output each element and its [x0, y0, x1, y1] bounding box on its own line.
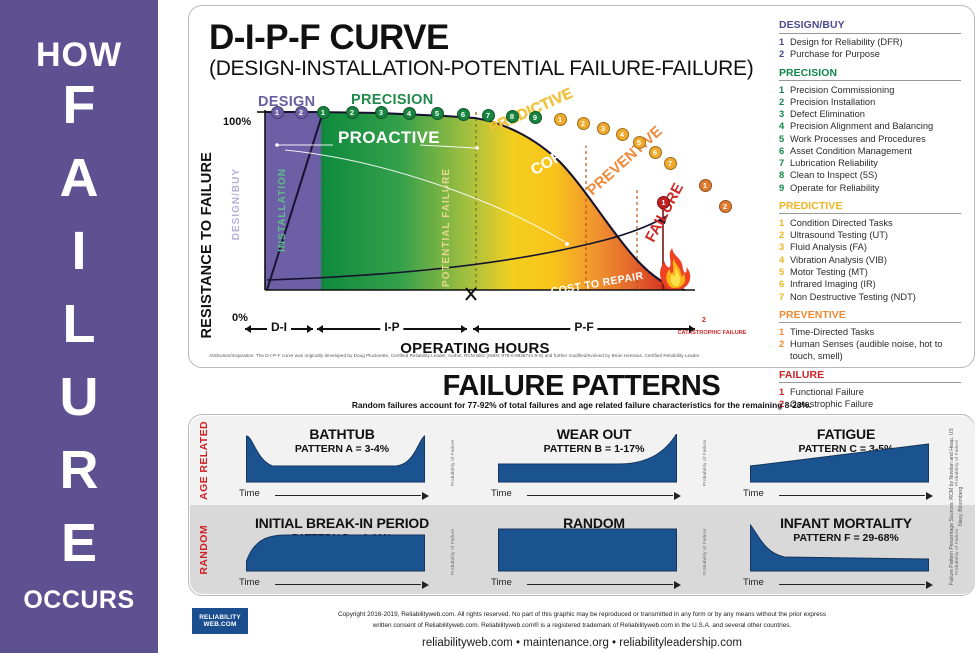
legend-heading-preventive: PREVENTIVE — [779, 310, 961, 324]
legend-item-number: 5 — [779, 266, 790, 278]
legend-panel: DESIGN/BUY1Design for Reliability (DFR)2… — [779, 20, 961, 417]
legend-group-preventive: PREVENTIVE1Time-Directed Tasks2Human Sen… — [779, 310, 961, 363]
pattern-time-arrow — [674, 492, 681, 500]
pattern-cell-wearout: WEAR OUTPATTERN B = 1-17%Probability of … — [469, 420, 719, 502]
pattern-cell-breakin: INITIAL BREAK-IN PERIODPATTERN D = 6-11%… — [217, 509, 467, 591]
band-label-text: RANDOM — [198, 525, 210, 575]
pattern-y-label: Probability of Failure — [702, 428, 707, 486]
legend-item-number: 1 — [779, 217, 790, 229]
legend-item-number: 3 — [779, 241, 790, 253]
copyright-line-1: Copyright 2016-2019, Reliabilityweb.com.… — [262, 609, 902, 620]
pattern-shape-svg — [485, 523, 690, 573]
legend-item: 9Operate for Reliability — [779, 182, 961, 194]
legend-item-label: Ultrasound Testing (UT) — [790, 229, 888, 241]
legend-item: 7Non Destructive Testing (NDT) — [779, 291, 961, 303]
failure-patterns-panel: AGE RELATEDBATHTUBPATTERN A = 3-4%Probab… — [188, 414, 975, 596]
legend-item-number: 9 — [779, 182, 790, 194]
pattern-time-line — [779, 584, 925, 585]
axis-seg-left-arrow — [245, 325, 251, 333]
banner-letter-l-3: L — [63, 297, 96, 351]
pattern-time-label: Time — [743, 577, 764, 588]
legend-item-number: 2 — [779, 48, 790, 60]
legend-heading-predictive: PREDICTIVE — [779, 201, 961, 215]
copyright-line-2: written consent of Reliabilityweb.com. R… — [262, 620, 902, 631]
pattern-time-label: Time — [239, 577, 260, 588]
infographic-page: HOW FAILURE OCCURS D-I-P-F CURVE (DESIGN… — [0, 0, 980, 653]
footer-copyright: Copyright 2016-2019, Reliabilityweb.com.… — [262, 609, 902, 631]
pattern-y-label: Probability of Failure — [450, 517, 455, 575]
vertical-label-design-buy: DESIGN/BUY — [231, 168, 242, 240]
logo-line-1: RELIABILITY — [199, 614, 241, 621]
legend-item-number: 2 — [779, 338, 790, 363]
dipf-chart: RESISTANCE TO FAILURE 100% 0% — [205, 90, 715, 360]
flame-icon — [660, 248, 690, 290]
pattern-time-line — [275, 584, 421, 585]
legend-group-precision: PRECISION1Precision Commissioning2Precis… — [779, 68, 961, 194]
legend-item-number: 3 — [779, 108, 790, 120]
catastrophic-number: 2 — [702, 317, 706, 324]
axis-seg-label: D-I — [267, 320, 291, 334]
pattern-shape-svg — [737, 434, 942, 484]
band-label-random: RANDOM — [195, 505, 213, 594]
pattern-graph — [233, 434, 438, 484]
legend-item-number: 8 — [779, 169, 790, 181]
axis-seg-label: P-F — [570, 320, 597, 334]
dot-predictive-1: 1 — [554, 113, 567, 126]
dot-predictive-4: 4 — [616, 128, 629, 141]
axis-seg-right-arrow — [689, 325, 695, 333]
legend-item-label: Operate for Reliability — [790, 182, 879, 194]
pattern-shape-svg — [485, 434, 690, 484]
pattern-y-label: Probability of Failure — [450, 428, 455, 486]
failure-pattern-cells: AGE RELATEDBATHTUBPATTERN A = 3-4%Probab… — [189, 415, 974, 595]
pattern-time-line — [275, 495, 421, 496]
legend-item-label: Fluid Analysis (FA) — [790, 241, 867, 253]
vertical-label-installation: INSTALLATION — [277, 168, 288, 252]
pattern-cell-infant: INFANT MORTALITYPATTERN F = 29-68%Probab… — [721, 509, 971, 591]
legend-item-number: 2 — [779, 229, 790, 241]
pattern-time-label: Time — [239, 488, 260, 499]
banner-occurs: OCCURS — [0, 586, 158, 615]
left-banner: HOW FAILURE OCCURS — [0, 0, 158, 653]
dot-precision-2: 2 — [346, 106, 359, 119]
axis-seg-left-arrow — [317, 325, 323, 333]
legend-item: 5Motor Testing (MT) — [779, 266, 961, 278]
dot-precision-1: 1 — [317, 106, 330, 119]
pattern-time-line — [779, 495, 925, 496]
pattern-graph — [485, 523, 690, 573]
band-label-text: AGE RELATED — [198, 421, 210, 500]
legend-item: 4Vibration Analysis (VIB) — [779, 254, 961, 266]
dot-predictive-5: 5 — [633, 136, 646, 149]
banner-letter-f-0: F — [63, 78, 96, 132]
dot-precision-9: 9 — [529, 111, 542, 124]
pattern-time-axis: Time — [743, 577, 933, 589]
legend-item: 2Purchase for Purpose — [779, 48, 961, 60]
legend-item-label: Infrared Imaging (IR) — [790, 278, 876, 290]
legend-item-number: 2 — [779, 96, 790, 108]
legend-item-label: Defect Elimination — [790, 108, 865, 120]
axis-segment-di: D-I — [245, 322, 313, 336]
legend-item-label: Precision Commissioning — [790, 84, 894, 96]
pattern-time-axis: Time — [743, 488, 933, 500]
legend-item-label: Asset Condition Management — [790, 145, 912, 157]
vertical-label-potential-failure: POTENTIAL FAILURE — [441, 168, 452, 287]
legend-item-label: Time-Directed Tasks — [790, 326, 874, 338]
legend-item: 1Time-Directed Tasks — [779, 326, 961, 338]
axis-segment-ip: I-P — [317, 322, 467, 336]
legend-item-number: 6 — [779, 278, 790, 290]
legend-item: 2Precision Installation — [779, 96, 961, 108]
pattern-time-arrow — [674, 581, 681, 589]
pattern-time-arrow — [926, 581, 933, 589]
pattern-time-axis: Time — [239, 577, 429, 589]
dot-precision-6: 6 — [457, 108, 470, 121]
pattern-graph — [737, 434, 942, 484]
pattern-cell-bathtub: BATHTUBPATTERN A = 3-4%Probability of Fa… — [217, 420, 467, 502]
banner-how: HOW — [0, 36, 158, 75]
legend-item: 1Precision Commissioning — [779, 84, 961, 96]
legend-item-label: Clean to Inspect (5S) — [790, 169, 877, 181]
dot-failure-1: 1 — [657, 196, 670, 209]
banner-letter-u-4: U — [60, 370, 99, 424]
banner-letter-i-2: I — [71, 224, 86, 278]
proactive-arrow-end — [475, 146, 479, 150]
band-label-age-related: AGE RELATED — [195, 416, 213, 505]
pattern-graph — [233, 523, 438, 573]
pattern-time-arrow — [422, 492, 429, 500]
proactive-arrow-dot — [275, 143, 279, 147]
axis-seg-label: I-P — [380, 320, 403, 334]
legend-item: 5Work Processes and Procedures — [779, 133, 961, 145]
legend-item: 7Lubrication Reliability — [779, 157, 961, 169]
legend-item-label: Condition Directed Tasks — [790, 217, 893, 229]
pattern-graph — [737, 523, 942, 573]
reliabilityweb-logo[interactable]: RELIABILITY WEB.COM — [192, 608, 248, 634]
legend-heading-precision: PRECISION — [779, 68, 961, 82]
pattern-time-line — [527, 584, 673, 585]
failure-patterns-title: FAILURE PATTERNS — [188, 370, 975, 403]
corrective-arrow-end — [565, 242, 569, 246]
legend-item: 3Fluid Analysis (FA) — [779, 241, 961, 253]
legend-item-number: 5 — [779, 133, 790, 145]
legend-item: 3Defect Elimination — [779, 108, 961, 120]
legend-item-number: 7 — [779, 157, 790, 169]
axis-seg-right-arrow — [461, 325, 467, 333]
legend-item-number: 1 — [779, 36, 790, 48]
legend-item-label: Motor Testing (MT) — [790, 266, 868, 278]
banner-letters: FAILURE — [0, 78, 158, 570]
legend-item: 2Ultrasound Testing (UT) — [779, 229, 961, 241]
pattern-time-arrow — [926, 492, 933, 500]
legend-heading-designbuy: DESIGN/BUY — [779, 20, 961, 34]
attribution-text: Attribution/Inspiration: The D-I-P-F cur… — [209, 353, 829, 358]
dot-precision-8: 8 — [506, 110, 519, 123]
legend-item: 2Human Senses (audible noise, hot to tou… — [779, 338, 961, 363]
dot-design-2: 2 — [295, 106, 308, 119]
failure-patterns-subtitle: Random failures account for 77-92% of to… — [188, 400, 975, 410]
page-title: D-I-P-F CURVE — [209, 18, 449, 58]
legend-item-number: 4 — [779, 254, 790, 266]
legend-item-label: Vibration Analysis (VIB) — [790, 254, 887, 266]
legend-item-label: Precision Installation — [790, 96, 875, 108]
pattern-graph — [485, 434, 690, 484]
pattern-time-line — [527, 495, 673, 496]
pattern-shape-svg — [737, 523, 942, 573]
logo-line-2: WEB.COM — [204, 621, 237, 628]
dot-precision-4: 4 — [403, 107, 416, 120]
legend-item: 8Clean to Inspect (5S) — [779, 169, 961, 181]
pattern-time-arrow — [422, 581, 429, 589]
legend-item-label: Lubrication Reliability — [790, 157, 878, 169]
legend-item-label: Human Senses (audible noise, hot to touc… — [790, 338, 961, 363]
axis-seg-left-arrow — [473, 325, 479, 333]
legend-item: 6Infrared Imaging (IR) — [779, 278, 961, 290]
legend-item-label: Precision Alignment and Balancing — [790, 120, 933, 132]
legend-item-label: Design for Reliability (DFR) — [790, 36, 903, 48]
legend-group-predictive: PREDICTIVE1Condition Directed Tasks2Ultr… — [779, 201, 961, 303]
failure-pattern-source-note: Failure Pattern Percentage Sources: RCM … — [948, 424, 972, 589]
footer-websites: reliabilityweb.com • maintenance.org • r… — [262, 637, 902, 649]
dot-design-1: 1 — [271, 106, 284, 119]
axis-seg-right-arrow — [307, 325, 313, 333]
dot-predictive-2: 2 — [577, 117, 590, 130]
zone-label-proactive: PROACTIVE — [338, 128, 440, 148]
axis-segment-pf: P-F — [473, 322, 695, 336]
legend-item-number: 7 — [779, 291, 790, 303]
pattern-y-label: Probability of Failure — [702, 517, 707, 575]
dipf-curve-panel: D-I-P-F CURVE (DESIGN-INSTALLATION-POTEN… — [188, 5, 975, 368]
dot-predictive-6: 6 — [649, 146, 662, 159]
legend-item-number: 1 — [779, 84, 790, 96]
legend-group-designbuy: DESIGN/BUY1Design for Reliability (DFR)2… — [779, 20, 961, 61]
legend-item: 4Precision Alignment and Balancing — [779, 120, 961, 132]
pattern-time-label: Time — [491, 488, 512, 499]
legend-item: 1Design for Reliability (DFR) — [779, 36, 961, 48]
pattern-cell-random: RANDOMPATTERN E = 14-42%Probability of F… — [469, 509, 719, 591]
pattern-shape-svg — [233, 434, 438, 484]
dot-preventive-1: 1 — [699, 179, 712, 192]
dot-predictive-7: 7 — [664, 157, 677, 170]
dot-precision-7: 7 — [482, 109, 495, 122]
legend-item-number: 6 — [779, 145, 790, 157]
pattern-time-label: Time — [743, 488, 764, 499]
pattern-cell-fatigue: FATIGUEPATTERN C = 3-5%Probability of Fa… — [721, 420, 971, 502]
legend-item-label: Work Processes and Procedures — [790, 133, 926, 145]
pattern-time-label: Time — [491, 577, 512, 588]
banner-letter-e-6: E — [61, 516, 97, 570]
legend-item: 6Asset Condition Management — [779, 145, 961, 157]
pattern-time-axis: Time — [239, 488, 429, 500]
page-subtitle: (DESIGN-INSTALLATION-POTENTIAL FAILURE-F… — [209, 57, 753, 81]
banner-letter-a-1: A — [60, 151, 99, 205]
legend-item-label: Purchase for Purpose — [790, 48, 880, 60]
legend-item-number: 1 — [779, 326, 790, 338]
dot-precision-3: 3 — [375, 106, 388, 119]
legend-item: 1Condition Directed Tasks — [779, 217, 961, 229]
pattern-shape-svg — [233, 523, 438, 573]
legend-item-number: 4 — [779, 120, 790, 132]
dot-preventive-2: 2 — [719, 200, 732, 213]
dot-precision-5: 5 — [431, 107, 444, 120]
dot-predictive-3: 3 — [597, 122, 610, 135]
pattern-time-axis: Time — [491, 488, 681, 500]
curve-area — [265, 112, 677, 290]
banner-letter-r-5: R — [60, 443, 99, 497]
zone-label-design: DESIGN — [258, 94, 315, 110]
zone-label-precision: PRECISION — [351, 92, 433, 108]
pattern-time-axis: Time — [491, 577, 681, 589]
legend-item-label: Non Destructive Testing (NDT) — [790, 291, 916, 303]
